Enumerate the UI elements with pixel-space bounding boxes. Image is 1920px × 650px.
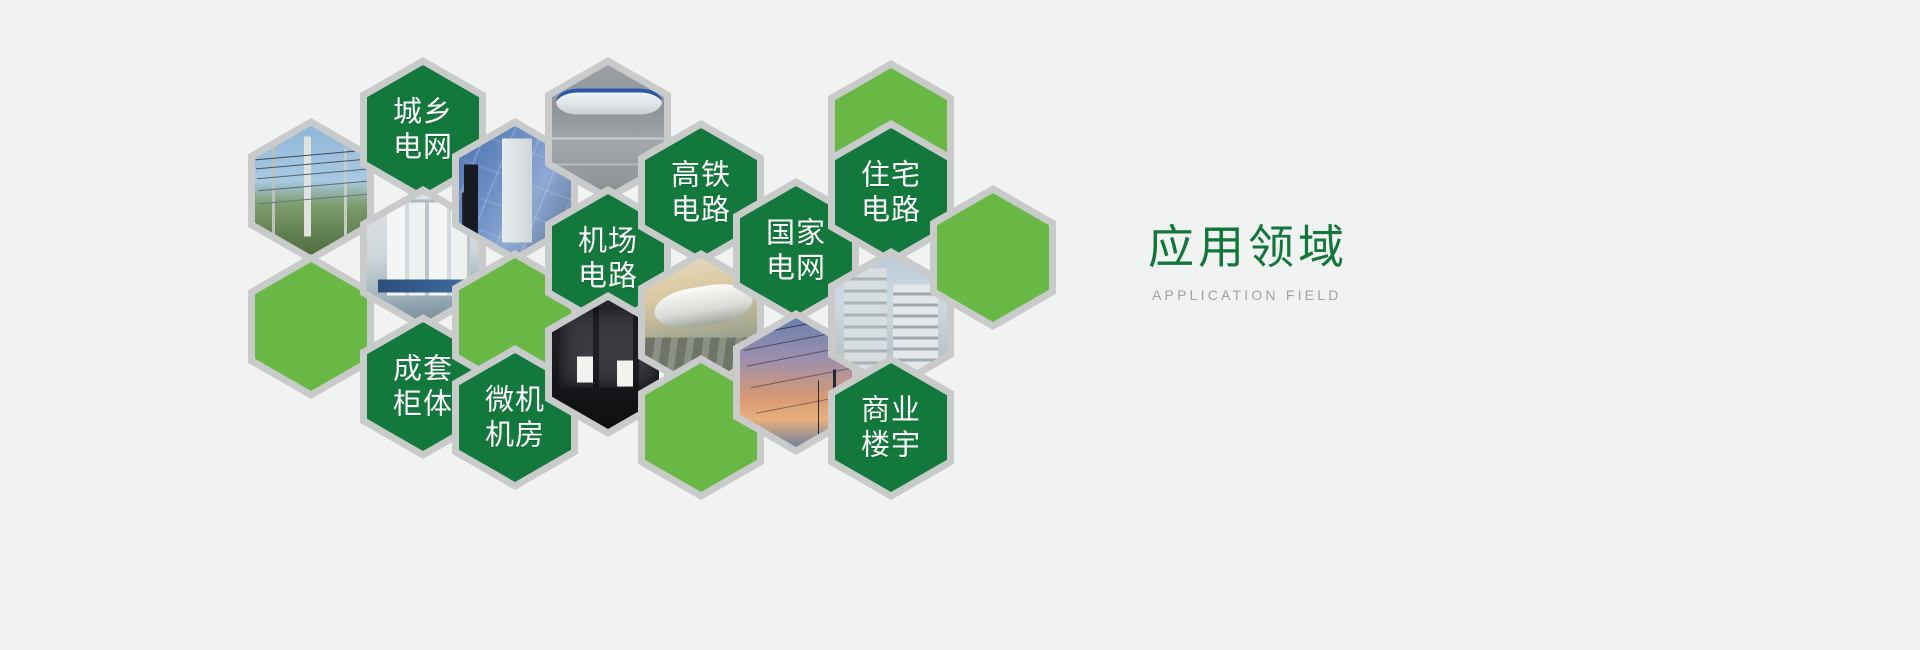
photo-utility-pole-icon [255,126,367,255]
hex-inner: 商业 楼宇 [835,363,947,492]
hex-inner [255,126,367,255]
hex-label: 住宅 电路 [861,157,921,228]
hex-inner [255,262,367,391]
hex-inner [937,193,1049,322]
page-subtitle: APPLICATION FIELD [1152,287,1568,303]
hex-label: 机场 电路 [578,223,638,294]
hex-label: 城乡 电网 [393,94,453,165]
hex-label: 成套 柜体 [393,351,453,422]
hex-label: 微机 机房 [485,382,545,453]
hex-filler-left-lower[interactable] [248,254,374,399]
hex-label: 国家 电网 [766,215,826,286]
hex-photo-utility-pole[interactable] [248,118,374,263]
page-title: 应用领域 [1148,222,1568,273]
application-field-banner: 城乡 电网 成套 柜体 微机 机房 [0,0,1920,650]
heading-block: 应用领域 APPLICATION FIELD [1148,222,1568,303]
hex-label: 高铁 电路 [671,157,731,228]
hex-label: 商业 楼宇 [861,392,921,463]
